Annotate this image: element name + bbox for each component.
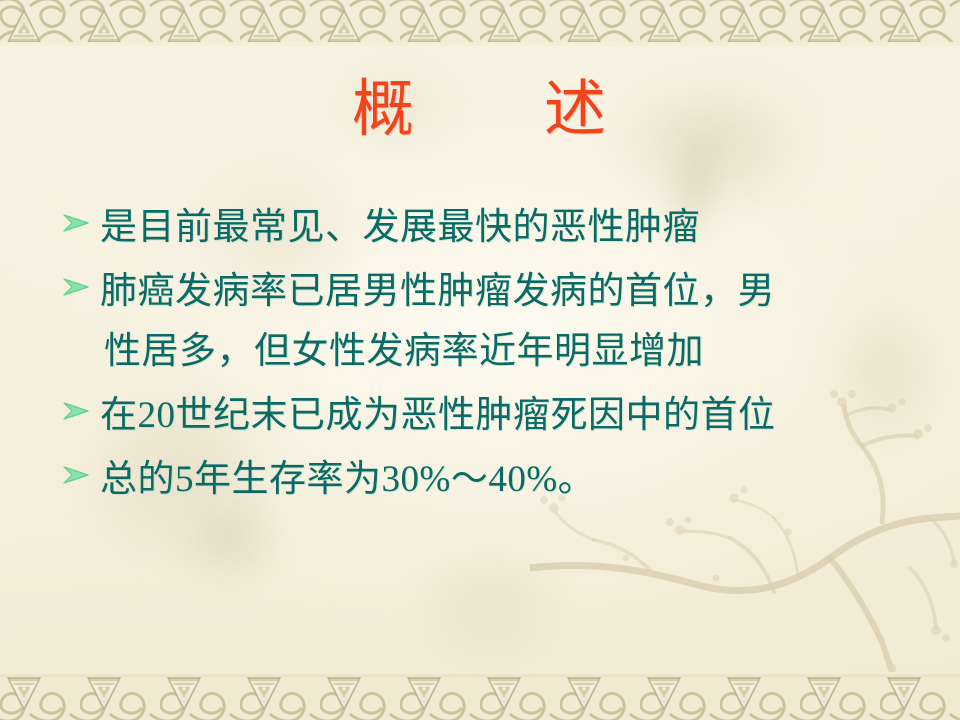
list-item-line: 在20世纪末已成为恶性肿瘤死因中的首位 <box>100 386 922 446</box>
arrow-bullet-icon <box>62 262 100 298</box>
arrow-bullet-icon <box>62 386 100 422</box>
slide: 概 述 是目前最常见、发展最快的恶性肿瘤 肺癌发病率已居男性肿瘤发病的首位，男 … <box>0 0 960 720</box>
list-item-text: 肺癌发病率已居男性肿瘤发病的首位，男 性居多，但女性发病率近年明显增加 <box>100 262 922 382</box>
greek-triangle-knot-border-top <box>0 0 960 46</box>
bullet-list: 是目前最常见、发展最快的恶性肿瘤 肺癌发病率已居男性肿瘤发病的首位，男 性居多，… <box>62 198 922 514</box>
list-item-line: 肺癌发病率已居男性肿瘤发病的首位，男 <box>100 262 922 322</box>
list-item-text: 是目前最常见、发展最快的恶性肿瘤 <box>100 198 922 258</box>
arrow-bullet-icon <box>62 198 100 234</box>
list-item: 肺癌发病率已居男性肿瘤发病的首位，男 性居多，但女性发病率近年明显增加 <box>62 262 922 382</box>
arrow-bullet-icon <box>62 450 100 486</box>
list-item-line: 是目前最常见、发展最快的恶性肿瘤 <box>100 198 922 258</box>
greek-triangle-knot-border-bottom <box>0 674 960 720</box>
list-item-text: 在20世纪末已成为恶性肿瘤死因中的首位 <box>100 386 922 446</box>
calligraphy-stroke <box>380 520 600 690</box>
list-item: 在20世纪末已成为恶性肿瘤死因中的首位 <box>62 386 922 446</box>
list-item: 总的5年生存率为30%～40%。 <box>62 450 922 510</box>
page-title: 概 述 <box>0 76 960 144</box>
list-item-text: 总的5年生存率为30%～40%。 <box>100 450 922 510</box>
list-item-line: 总的5年生存率为30%～40%。 <box>100 450 922 510</box>
list-item-line: 性居多，但女性发病率近年明显增加 <box>100 322 922 382</box>
list-item: 是目前最常见、发展最快的恶性肿瘤 <box>62 198 922 258</box>
